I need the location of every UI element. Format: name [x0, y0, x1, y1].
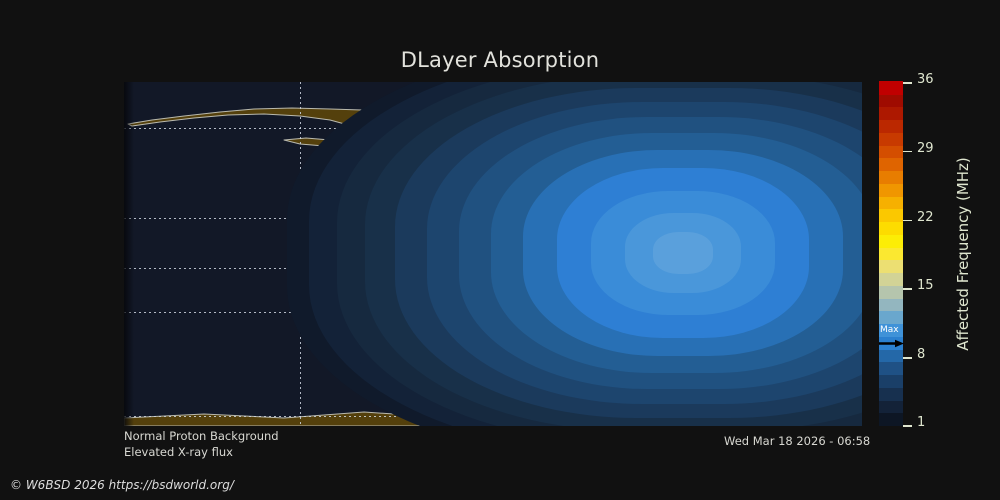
colorbar-band: [879, 361, 903, 375]
xray-status: Elevated X-ray flux: [124, 445, 279, 461]
colorbar-band: [879, 399, 903, 413]
colorbar-band: [879, 183, 903, 197]
colorbar-axis-title: Affected Frequency (MHz): [952, 82, 974, 426]
colorbar-tick-line: [903, 151, 912, 153]
colorbar-band: [879, 387, 903, 401]
colorbar-band: [879, 297, 903, 311]
colorbar-band: [879, 285, 903, 299]
colorbar-band: [879, 195, 903, 209]
colorbar-band: [879, 132, 903, 146]
figure-canvas: DLayer Absorption: [0, 0, 1000, 500]
colorbar-tick-label: 29: [917, 142, 934, 155]
colorbar-band: [879, 106, 903, 120]
colorbar-band: [879, 81, 903, 95]
proton-status: Normal Proton Background: [124, 429, 279, 445]
colorbar-tick-line: [903, 220, 912, 222]
colorbar-band: [879, 348, 903, 362]
timestamp: Wed Mar 18 2026 - 06:58: [724, 434, 870, 448]
colorbar-band: [879, 259, 903, 273]
colorbar-band: [879, 208, 903, 222]
colorbar-band: [879, 234, 903, 248]
colorbar-band: [879, 94, 903, 108]
status-annotations: Normal Proton Background Elevated X-ray …: [124, 429, 279, 460]
colorbar[interactable]: [879, 82, 903, 426]
colorbar-band: [879, 119, 903, 133]
page-title: DLayer Absorption: [0, 48, 1000, 72]
colorbar-tick-label: 1: [917, 416, 925, 429]
colorbar-tick-label: 8: [917, 348, 925, 361]
colorbar-band: [879, 310, 903, 324]
colorbar-band: [879, 145, 903, 159]
world-map[interactable]: [124, 82, 862, 426]
colorbar-tick-line: [903, 288, 912, 290]
absorption-ring: [653, 232, 713, 274]
colorbar-tick-label: 36: [917, 73, 934, 86]
colorbar-gradient: [879, 82, 903, 426]
colorbar-axis-title-text: Affected Frequency (MHz): [954, 157, 972, 351]
colorbar-tick-line: [903, 425, 912, 427]
colorbar-tick-label: 22: [917, 211, 934, 224]
colorbar-band: [879, 157, 903, 171]
colorbar-band: [879, 272, 903, 286]
colorbar-tick-line: [903, 357, 912, 359]
colorbar-band: [879, 374, 903, 388]
colorbar-band: [879, 221, 903, 235]
colorbar-band: [879, 323, 903, 337]
colorbar-band: [879, 336, 903, 350]
colorbar-tick-line: [903, 82, 912, 84]
copyright-notice: © W6BSD 2026 https://bsdworld.org/: [10, 478, 234, 492]
colorbar-band: [879, 170, 903, 184]
colorbar-tick-label: 15: [917, 279, 934, 292]
colorbar-band: [879, 246, 903, 260]
colorbar-band: [879, 412, 903, 426]
